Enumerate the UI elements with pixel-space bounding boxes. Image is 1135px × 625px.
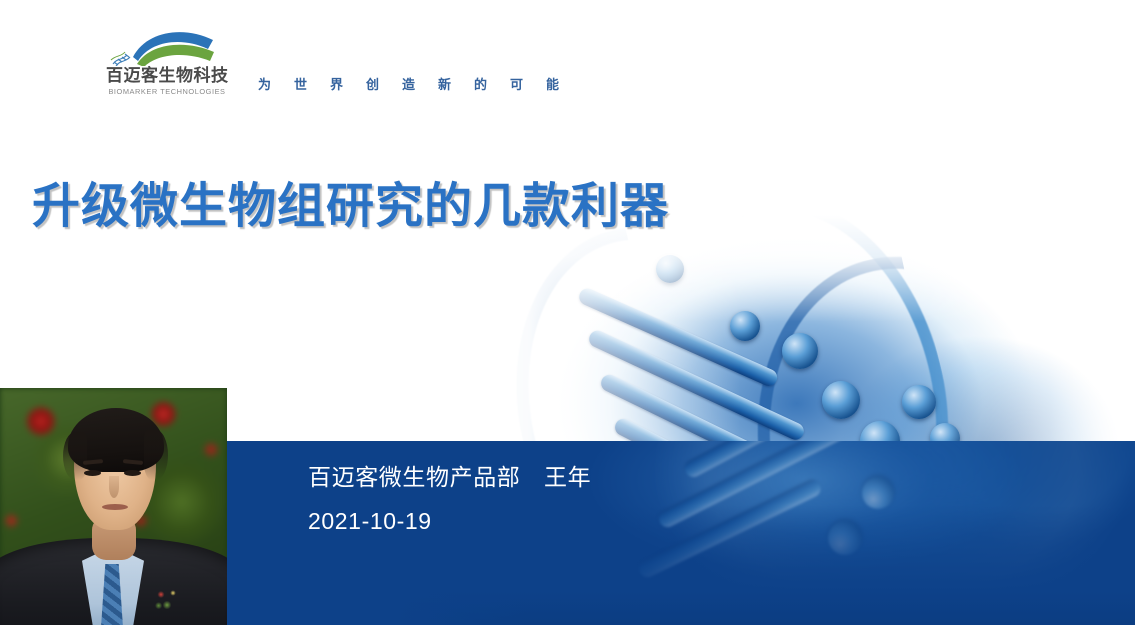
- company-logo: 百迈客生物科技 BIOMARKER TECHNOLOGIES: [107, 24, 227, 102]
- dna-base-pair: [577, 286, 780, 389]
- page-title: 升级微生物组研究的几款利器: [32, 166, 669, 236]
- dna-base-pair: [586, 328, 806, 443]
- biomarker-arc-dna-logo-icon: [107, 24, 227, 66]
- dna-nucleotide: [730, 311, 760, 341]
- presentation-slide: 百迈客生物科技 BIOMARKER TECHNOLOGIES 为世界创造新的可能…: [0, 0, 1135, 625]
- logo-company-name-en: BIOMARKER TECHNOLOGIES: [106, 87, 228, 97]
- presentation-date: 2021-10-19: [308, 508, 432, 535]
- footer-blue-band: 百迈客微生物产品部 王年 2021-10-19: [227, 441, 1135, 625]
- logo-company-name-cn: 百迈客生物科技: [106, 66, 228, 86]
- portrait-eye-right: [124, 470, 141, 476]
- presenter-name: 百迈客微生物产品部 王年: [308, 458, 591, 492]
- portrait-hair-side-right: [144, 430, 168, 480]
- dna-nucleotide: [782, 333, 818, 369]
- portrait-nose: [109, 476, 119, 498]
- slide-header: 百迈客生物科技 BIOMARKER TECHNOLOGIES 为世界创造新的可能: [0, 0, 1135, 120]
- portrait-mouth: [102, 504, 128, 510]
- presenter-portrait-photo: [0, 388, 227, 625]
- portrait-boutonniere: [152, 584, 182, 614]
- dna-nucleotide: [822, 381, 860, 419]
- dna-nucleotide: [656, 255, 684, 283]
- dna-nucleotide: [902, 385, 936, 419]
- portrait-eye-left: [84, 470, 101, 476]
- company-tagline: 为世界创造新的可能: [258, 74, 582, 93]
